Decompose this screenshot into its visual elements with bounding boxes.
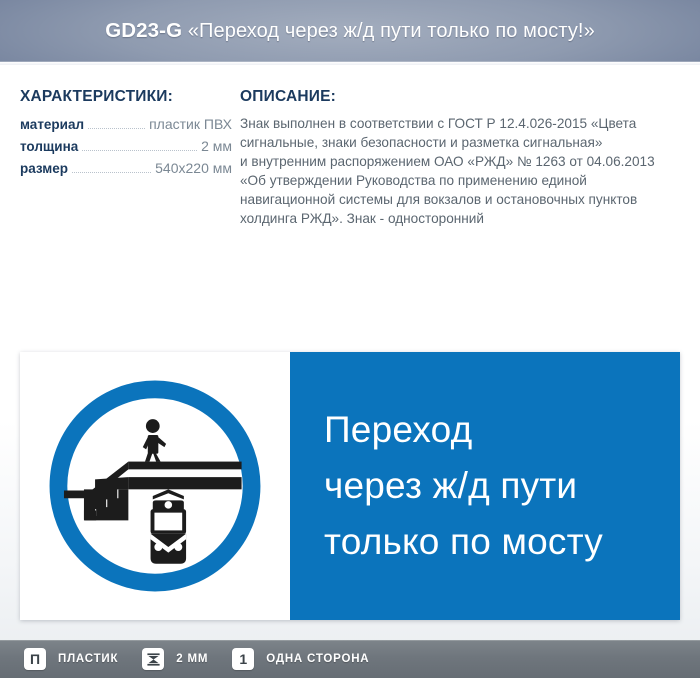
header-divider [0,62,700,65]
product-code: GD23-G [105,19,182,42]
description-line: навигационной системы для вокзалов и ост… [240,190,680,209]
sides-count-badge-icon: 1 [232,648,254,670]
footer-item-thickness: 2 ММ [142,648,208,670]
spec-leader [82,150,197,151]
badge-char: 1 [239,652,247,666]
page-header: GD23-G «Переход через ж/д пути только по… [0,0,700,62]
spec-label: толщина [20,139,78,154]
pedestrian-bridge-over-railway-icon [44,375,266,597]
spec-value: пластик ПВХ [149,116,232,132]
page-title: «Переход через ж/д пути только по мосту!… [188,20,595,42]
spec-row-material: материал пластик ПВХ [20,116,232,132]
footer-label: 2 ММ [176,653,208,665]
sign-text-line: только по мосту [324,514,603,570]
product-card: GD23-G «Переход через ж/д пути только по… [0,0,700,700]
description-line: сигнальные, знаки безопасности и разметк… [240,133,680,152]
spec-row-size: размер 540х220 мм [20,160,232,176]
description-line: «Об утверждении Руководства по применени… [240,171,680,190]
characteristics-heading: ХАРАКТЕРИСТИКИ: [20,88,232,106]
header-title-row: GD23-G «Переход через ж/д пути только по… [0,19,700,43]
footer-label: ПЛАСТИК [58,653,118,665]
sign-text-panel: Переход через ж/д пути только по мосту [290,352,680,620]
spec-value: 2 мм [201,138,232,154]
description-line: холдинга РЖД». Знак - односторонний [240,209,680,228]
spec-label: материал [20,117,84,132]
badge-char: П [30,652,40,666]
thickness-badge-icon [142,648,164,670]
description-heading: ОПИСАНИЕ: [240,88,680,106]
footer-item-material: П ПЛАСТИК [24,648,118,670]
sign-preview[interactable]: Переход через ж/д пути только по мосту [20,352,680,620]
footer-item-sides: 1 ОДНА СТОРОНА [232,648,369,670]
spec-label: размер [20,161,68,176]
description-body: Знак выполнен в соответствии с ГОСТ Р 12… [240,114,680,228]
description-line: Знак выполнен в соответствии с ГОСТ Р 12… [240,114,680,133]
description-line: и внутренним распоряжением ОАО «РЖД» № 1… [240,152,680,171]
sign-pictogram-panel [20,352,290,620]
sign-text: Переход через ж/д пути только по мосту [324,402,603,570]
description-section: ОПИСАНИЕ: Знак выполнен в соответствии с… [240,88,680,228]
thickness-glyph-icon [146,652,161,667]
sign-text-line: через ж/д пути [324,458,603,514]
spec-value: 540х220 мм [155,160,232,176]
spec-leader [72,172,151,173]
footer-label: ОДНА СТОРОНА [266,653,369,665]
page-footer: П ПЛАСТИК 2 ММ 1 ОДНА СТОРОНА [0,640,700,678]
spec-row-thickness: толщина 2 мм [20,138,232,154]
sign-text-line: Переход [324,402,603,458]
plastic-badge-icon: П [24,648,46,670]
characteristics-section: ХАРАКТЕРИСТИКИ: материал пластик ПВХ тол… [20,88,232,182]
footer-bottom-strip [0,678,700,700]
spec-leader [88,128,145,129]
